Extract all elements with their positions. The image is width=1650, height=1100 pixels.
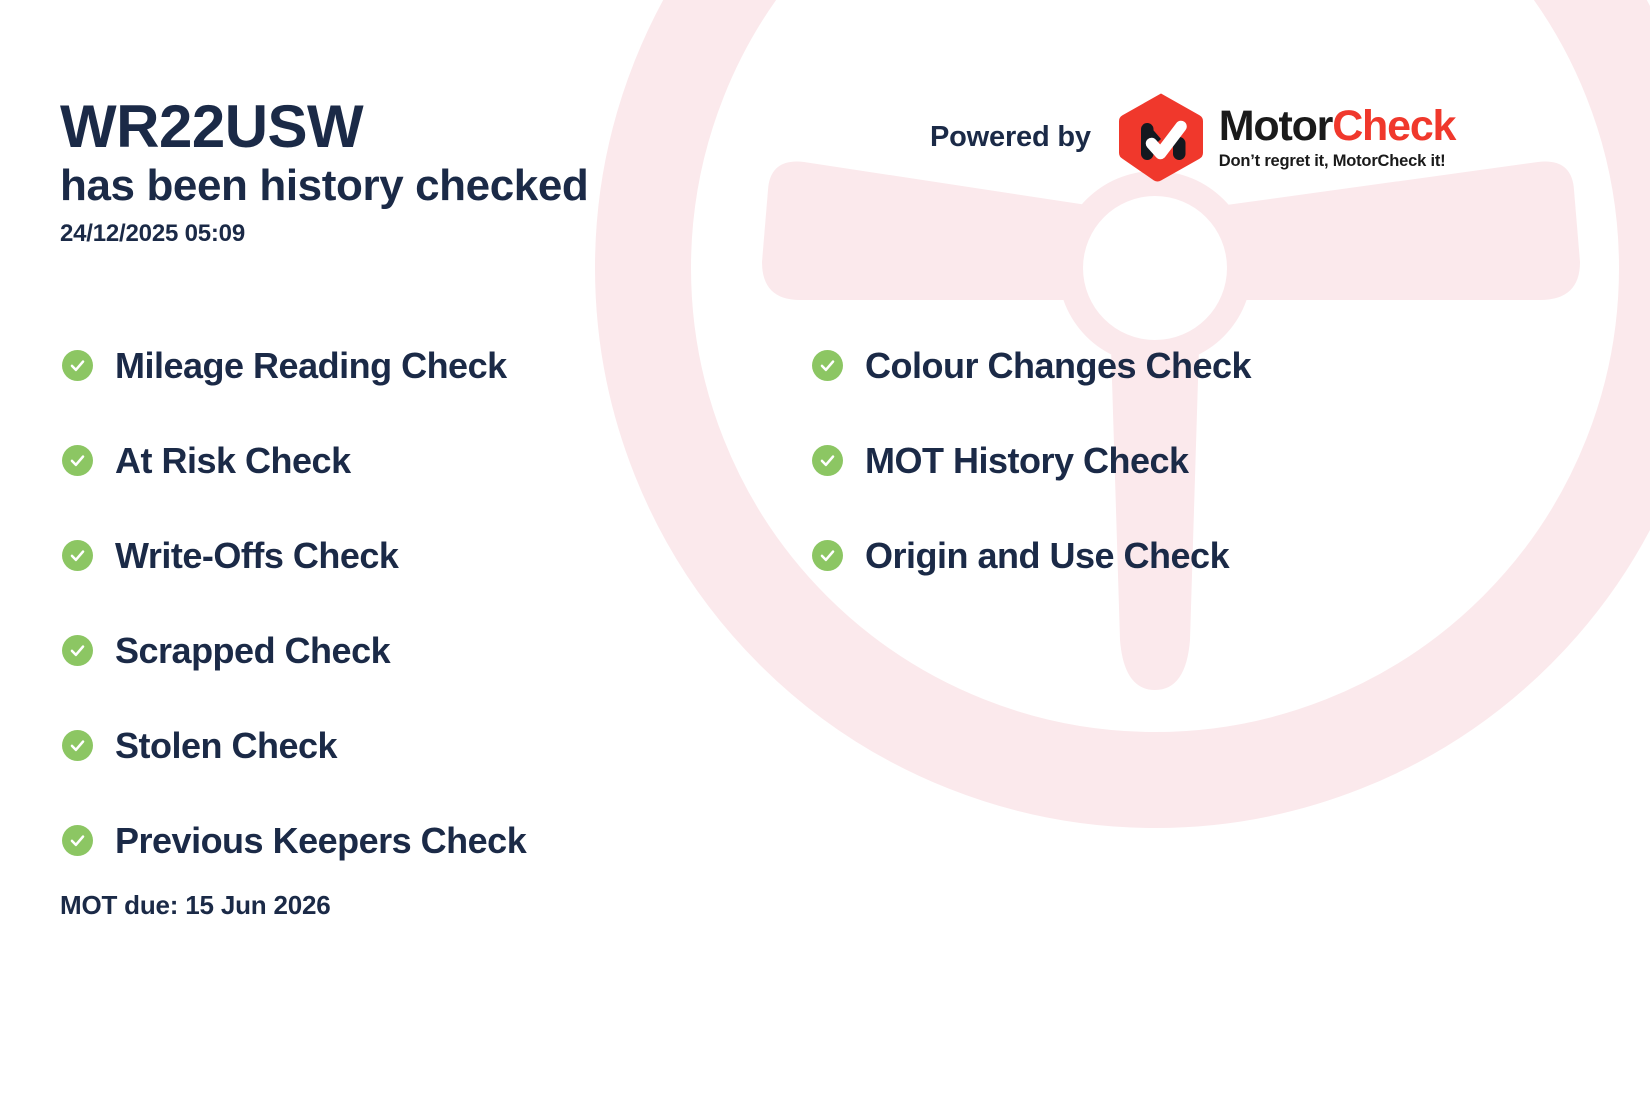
green-check-circle-icon [812, 350, 843, 381]
green-check-circle-icon [62, 540, 93, 571]
green-check-circle-icon [62, 825, 93, 856]
check-item: Stolen Check [62, 698, 762, 793]
checks-column-left: Mileage Reading Check At Risk Check Writ… [62, 318, 762, 888]
powered-by-block: Powered by MotorCheck Don’t regret it, M… [930, 92, 1455, 182]
checks-column-right: Colour Changes Check MOT History Check O… [812, 318, 1502, 603]
status-line: has been history checked [60, 160, 760, 212]
check-label: Write-Offs Check [115, 535, 398, 577]
check-label: MOT History Check [865, 440, 1189, 482]
check-label: Scrapped Check [115, 630, 390, 672]
check-item: Origin and Use Check [812, 508, 1502, 603]
check-label: Previous Keepers Check [115, 820, 526, 862]
green-check-circle-icon [62, 730, 93, 761]
green-check-circle-icon [62, 635, 93, 666]
headline-block: WR22USW has been history checked 24/12/2… [60, 95, 760, 248]
check-label: At Risk Check [115, 440, 351, 482]
check-item: Colour Changes Check [812, 318, 1502, 413]
green-check-circle-icon [62, 350, 93, 381]
motorcheck-tagline: Don’t regret it, MotorCheck it! [1219, 153, 1455, 170]
green-check-circle-icon [812, 540, 843, 571]
check-item: Previous Keepers Check [62, 793, 762, 888]
motorcheck-logo[interactable]: MotorCheck Don’t regret it, MotorCheck i… [1117, 92, 1455, 182]
motorcheck-wordmark-block: MotorCheck Don’t regret it, MotorCheck i… [1219, 105, 1455, 170]
check-item: MOT History Check [812, 413, 1502, 508]
history-check-banner: WR22USW has been history checked 24/12/2… [0, 0, 1650, 1100]
motorcheck-wordmark: MotorCheck [1219, 105, 1455, 148]
green-check-circle-icon [62, 445, 93, 476]
green-check-circle-icon [812, 445, 843, 476]
mot-due-text: MOT due: 15 Jun 2026 [60, 890, 331, 921]
check-label: Stolen Check [115, 725, 337, 767]
check-label: Mileage Reading Check [115, 345, 507, 387]
check-item: Scrapped Check [62, 603, 762, 698]
check-label: Origin and Use Check [865, 535, 1229, 577]
vehicle-registration: WR22USW [60, 95, 760, 158]
check-item: At Risk Check [62, 413, 762, 508]
motorcheck-hexagon-icon [1117, 92, 1205, 182]
wordmark-motor: Motor [1219, 102, 1332, 150]
check-timestamp: 24/12/2025 05:09 [60, 220, 760, 248]
check-label: Colour Changes Check [865, 345, 1251, 387]
powered-by-label: Powered by [930, 121, 1091, 154]
check-item: Write-Offs Check [62, 508, 762, 603]
wordmark-check: Check [1332, 102, 1455, 150]
check-item: Mileage Reading Check [62, 318, 762, 413]
